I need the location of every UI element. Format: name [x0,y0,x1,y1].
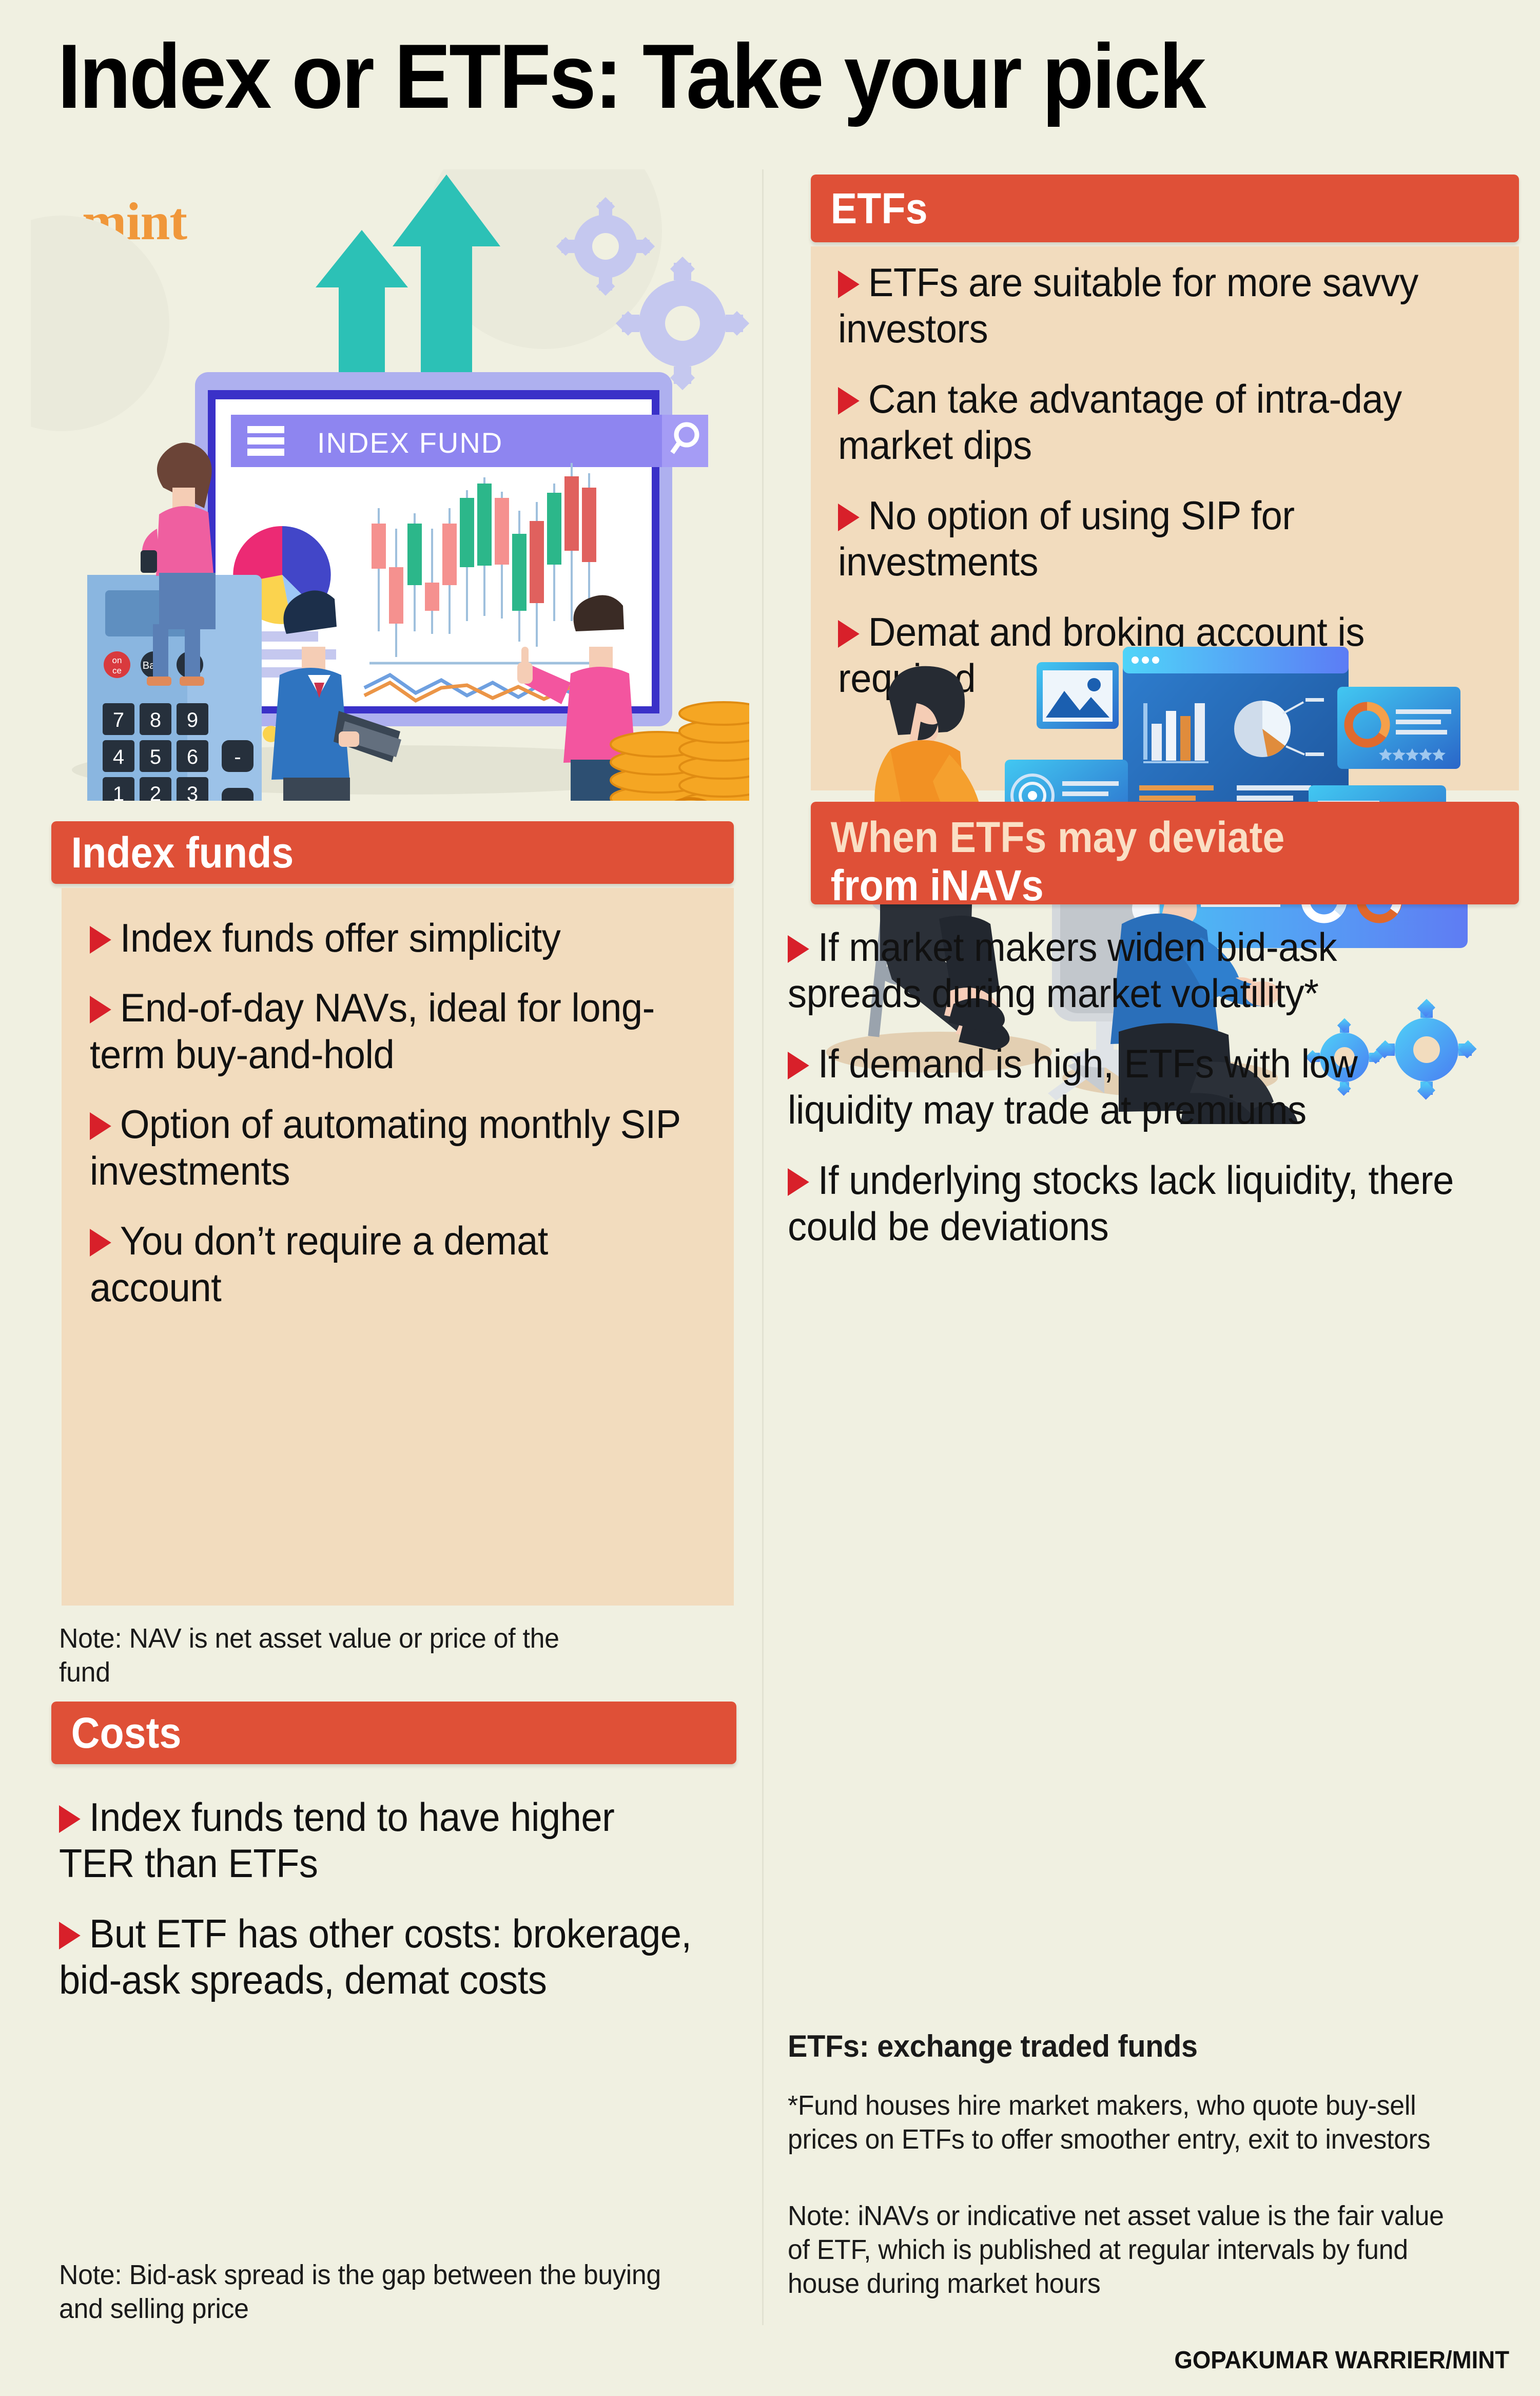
bullet-list-deviate: If market makers widen bid-ask spreads d… [788,924,1506,1273]
footnote-market-makers: *Fund houses hire market makers, who quo… [788,2089,1468,2157]
triangle-bullet-icon [59,1922,81,1949]
credit-line: GOPAKUMAR WARRIER/MINT [1174,2346,1509,2374]
section-title-deviate-line2: from iNAVs [831,861,1285,910]
svg-text:6: 6 [187,746,198,768]
svg-text:4: 4 [113,746,124,768]
svg-text:ce: ce [112,666,122,675]
list-item: End-of-day NAVs, ideal for long-term buy… [90,984,690,1077]
list-item: No option of using SIP for investments [838,492,1467,585]
svg-text:7: 7 [113,709,124,731]
triangle-bullet-icon [788,1052,809,1079]
page-title: Index or ETFs: Take your pick [57,31,1394,122]
section-title-costs: Costs [51,1709,181,1757]
svg-text:-: - [234,746,241,768]
svg-text:INDEX FUND: INDEX FUND [317,427,503,459]
list-item: But ETF has other costs: brokerage, bid-… [59,1910,693,2003]
section-header-costs: Costs [51,1702,736,1764]
section-header-index-funds: Index funds [51,821,734,884]
note-index-funds: Note: NAV is net asset value or price of… [59,1622,601,1690]
bullet-list-index-funds: Index funds offer simplicity End-of-day … [90,915,721,1334]
svg-text:2: 2 [150,783,161,801]
svg-text:9: 9 [187,709,198,731]
triangle-bullet-icon [838,504,860,531]
triangle-bullet-icon [788,935,809,963]
bullet-list-costs: Index funds tend to have higher TER than… [59,1794,726,2027]
list-item: If underlying stocks lack liquidity, the… [788,1157,1470,1250]
triangle-bullet-icon [90,1229,111,1257]
left-column: mint [0,169,762,2396]
section-title-etfs: ETFs [811,184,928,233]
triangle-bullet-icon [90,926,111,954]
triangle-bullet-icon [788,1168,809,1196]
right-column: ETFs ETFs are suitable for more savvy in… [772,169,1540,2396]
list-item: If market makers widen bid-ask spreads d… [788,924,1470,1017]
section-header-deviate: When ETFs may deviate from iNAVs [811,802,1519,904]
footnote-inavs: Note: iNAVs or indicative net asset valu… [788,2199,1468,2301]
list-item: You don’t require a demat account [90,1218,690,1310]
column-divider [762,169,764,2325]
list-item: Option of automating monthly SIP investm… [90,1101,690,1194]
svg-text:3: 3 [187,783,198,801]
svg-text:5: 5 [150,746,161,768]
triangle-bullet-icon [59,1805,81,1833]
list-item: If demand is high, ETFs with low liquidi… [788,1040,1470,1133]
section-title-index-funds: Index funds [51,828,294,877]
list-item: ETFs are suitable for more savvy investo… [838,259,1467,352]
svg-text:1: 1 [113,783,124,801]
section-header-etfs: ETFs [811,175,1519,242]
list-item: Index funds offer simplicity [90,915,690,961]
abbreviation-etfs: ETFs: exchange traded funds [788,2027,1453,2065]
section-title-deviate-line1: When ETFs may deviate [831,813,1285,861]
note-costs: Note: Bid-ask spread is the gap between … [59,2258,694,2326]
svg-text:on: on [112,655,122,665]
triangle-bullet-icon [90,996,111,1023]
list-item: Index funds tend to have higher TER than… [59,1794,693,1887]
triangle-bullet-icon [838,270,860,298]
triangle-bullet-icon [838,387,860,415]
svg-text:8: 8 [150,709,161,731]
list-item: Can take advantage of intra-day market d… [838,376,1467,469]
triangle-bullet-icon [90,1112,111,1140]
index-fund-illustration: INDEX FUND [31,169,749,801]
